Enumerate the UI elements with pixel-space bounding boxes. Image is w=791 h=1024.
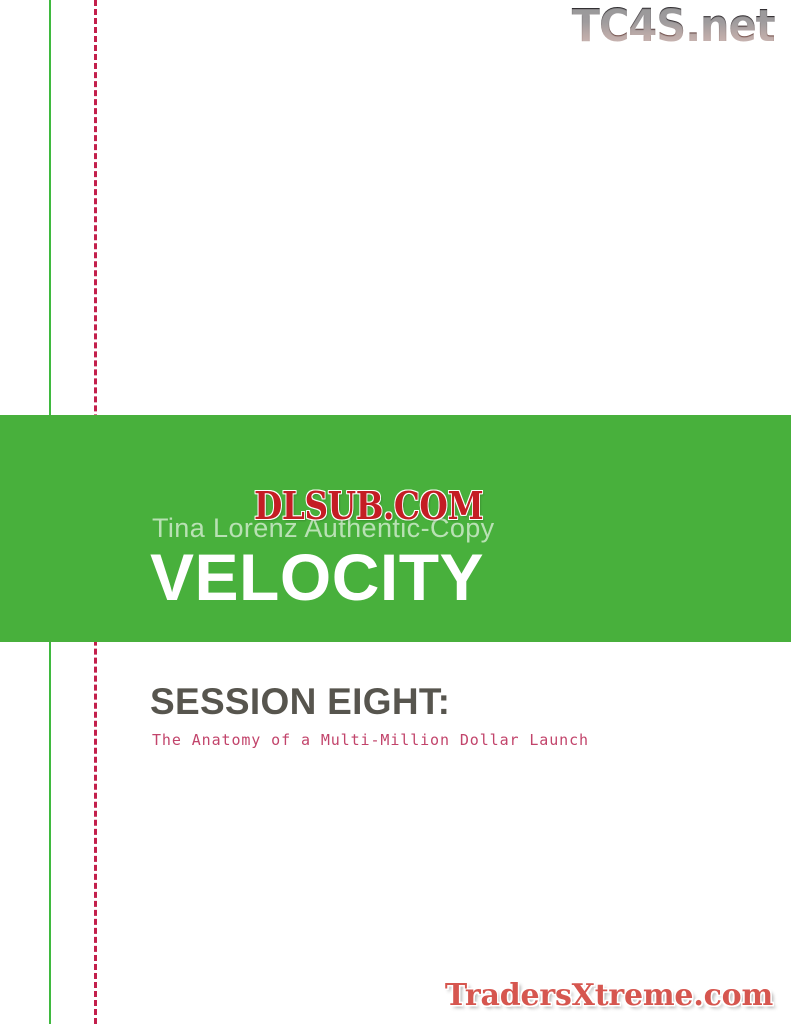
watermark-dlsub-overlay: DLSUB.COM	[254, 487, 483, 525]
session-subtitle: The Anatomy of a Multi-Million Dollar La…	[152, 731, 589, 749]
watermark-bottom-right: TradersXtreme.com	[445, 979, 773, 1012]
document-page: TC4S.net Tina Lorenz Authentic-Copy VELO…	[0, 0, 791, 1024]
watermark-top-right: TC4S.net	[572, 2, 775, 49]
session-heading: SESSION EIGHT:	[150, 681, 450, 723]
banner-title: VELOCITY	[150, 543, 484, 612]
